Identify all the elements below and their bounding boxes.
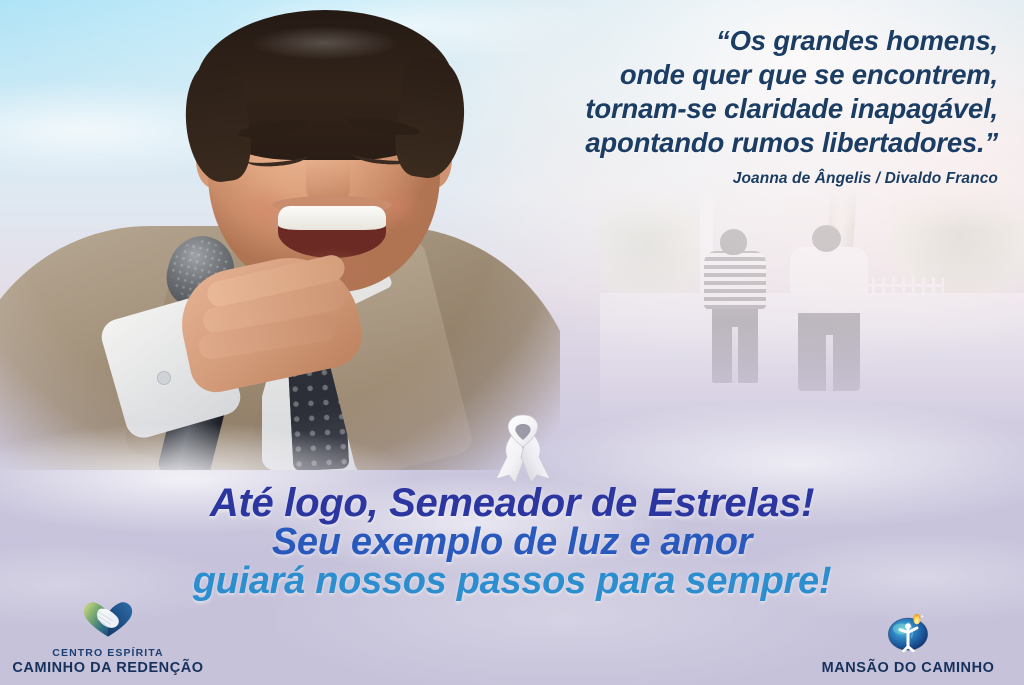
- quote-line-3: tornam-se claridade inapagável,: [378, 92, 998, 126]
- footer-logo-mansao-do-caminho[interactable]: MANSÃO DO CAMINHO: [798, 611, 1018, 677]
- footer-logo-left-line-2: CAMINHO DA REDENÇÃO: [8, 660, 208, 677]
- globe-figure-torch-icon: [798, 611, 1018, 657]
- background-photo: [600, 185, 1024, 435]
- white-awareness-ribbon-icon: [484, 407, 562, 485]
- portrait-teeth: [278, 206, 386, 230]
- walking-person-striped-shirt: [704, 251, 766, 309]
- portrait-cuff-button: [158, 372, 170, 384]
- walking-person-striped-head: [720, 229, 747, 255]
- walking-person-white-leg-gap: [826, 335, 833, 391]
- memorial-message: Até logo, Semeador de Estrelas! Seu exem…: [0, 484, 1024, 601]
- quote-attribution: Joanna de Ângelis / Divaldo Franco: [378, 170, 998, 188]
- quote-block: “Os grandes homens, onde quer que se enc…: [378, 24, 998, 160]
- walking-person-striped-leg-gap: [732, 327, 738, 383]
- message-line-1: Até logo, Semeador de Estrelas!: [0, 484, 1024, 523]
- walking-person-white-head: [812, 225, 841, 252]
- message-line-2: Seu exemplo de luz e amor: [0, 523, 1024, 562]
- heart-hands-icon: [8, 599, 208, 644]
- message-line-3: guiará nossos passos para sempre!: [0, 562, 1024, 601]
- footer-logo-centro-espirita[interactable]: CENTRO ESPÍRITA CAMINHO DA REDENÇÃO: [8, 599, 208, 677]
- footer-logo-left-line-1: CENTRO ESPÍRITA: [8, 647, 208, 660]
- memorial-poster: “Os grandes homens, onde quer que se enc…: [0, 0, 1024, 685]
- footer-logo-right-line-1: MANSÃO DO CAMINHO: [798, 660, 1018, 677]
- quote-line-2: onde quer que se encontrem,: [378, 58, 998, 92]
- quote-line-4: apontando rumos libertadores.”: [378, 126, 998, 160]
- walking-person-white-shirt: [790, 247, 868, 313]
- quote-line-1: “Os grandes homens,: [378, 24, 998, 58]
